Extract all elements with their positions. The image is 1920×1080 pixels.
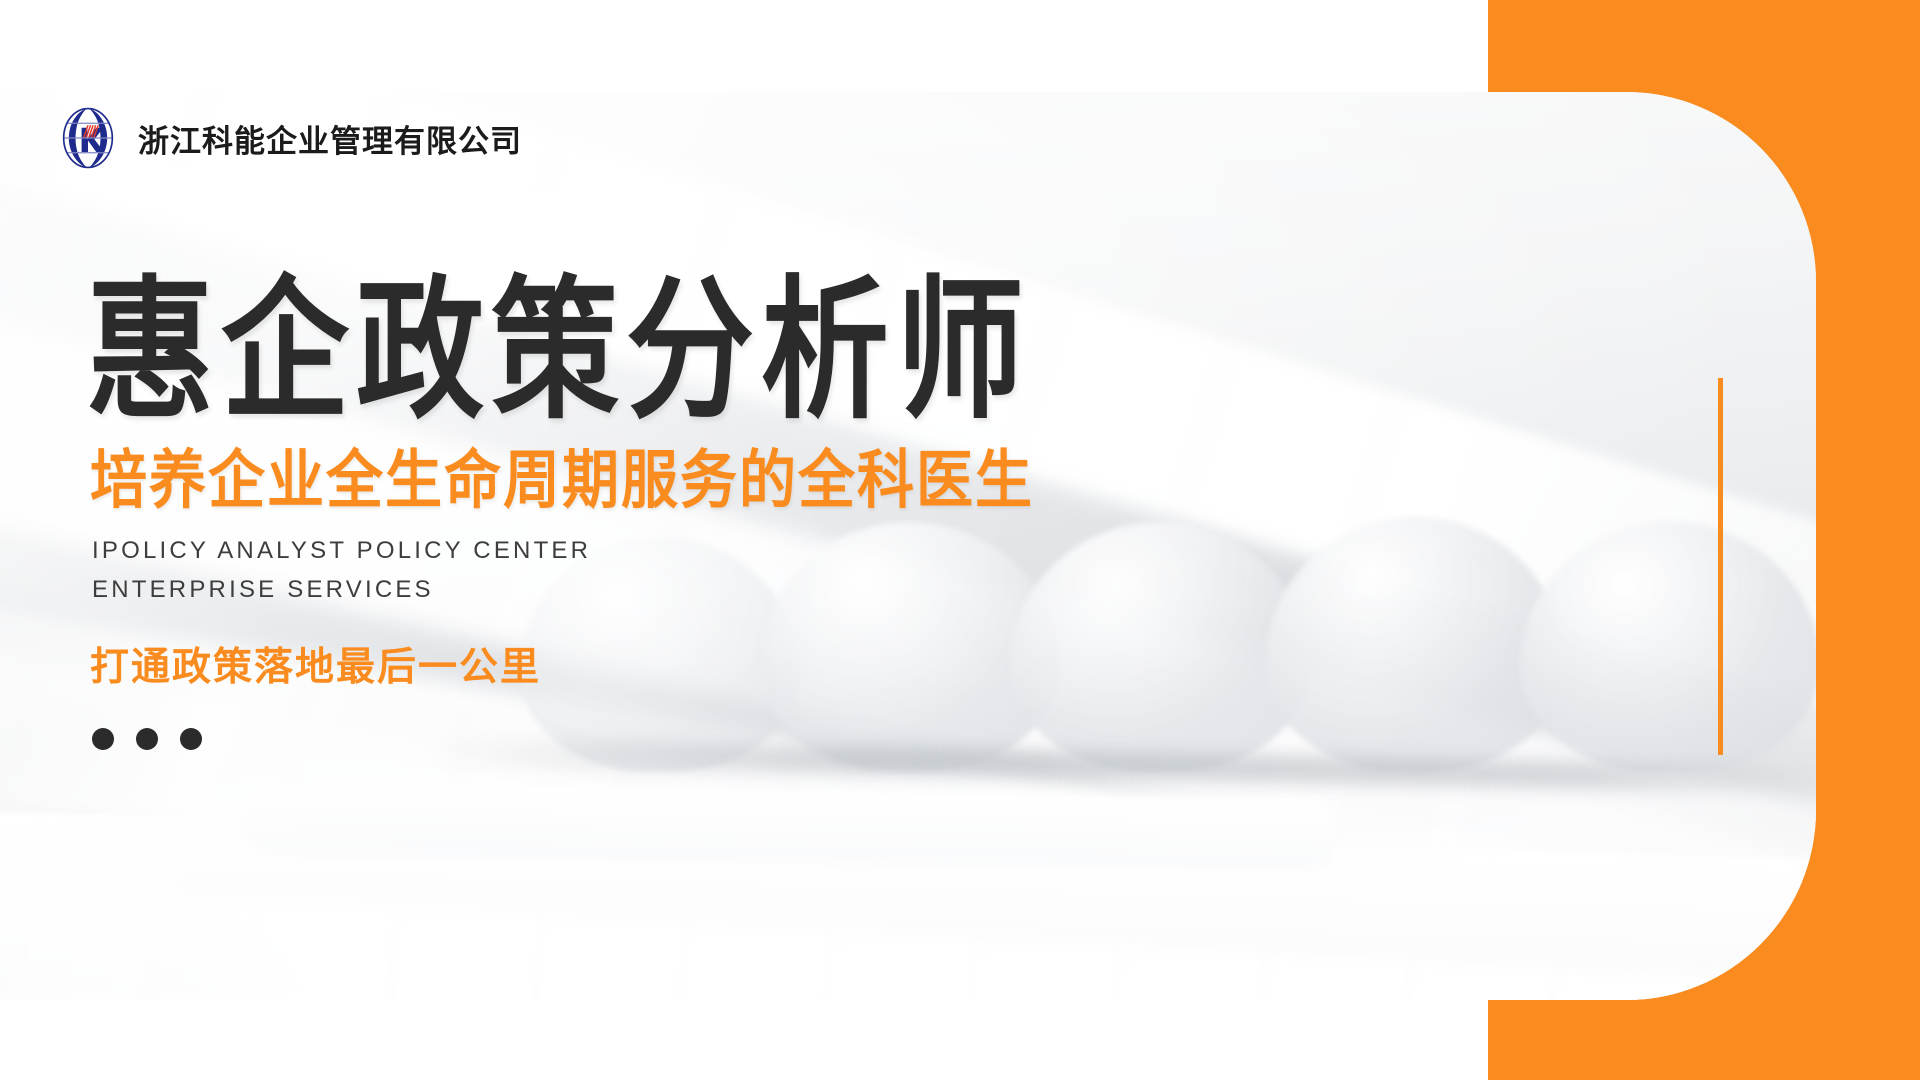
tagline: 打通政策落地最后一公里 bbox=[90, 636, 541, 692]
decor-dot bbox=[180, 728, 202, 750]
decor-dot bbox=[136, 728, 158, 750]
english-caption: IPOLICY ANALYST POLICY CENTER ENTERPRISE… bbox=[92, 532, 591, 610]
english-caption-line-1: IPOLICY ANALYST POLICY CENTER bbox=[92, 532, 591, 571]
company-name: 浙江科能企业管理有限公司 bbox=[138, 116, 522, 161]
decor-dots bbox=[92, 728, 202, 750]
subtitle: 培养企业全生命周期服务的全科医生 bbox=[90, 448, 1034, 515]
poster-canvas: 浙江科能企业管理有限公司 惠企政策分析师 培养企业全生命周期服务的全科医生 IP… bbox=[0, 0, 1920, 1080]
orange-vertical-rule bbox=[1718, 378, 1723, 755]
globe-emblem-icon bbox=[56, 106, 120, 170]
decor-dot bbox=[92, 728, 114, 750]
page-title: 惠企政策分析师 bbox=[86, 274, 1031, 431]
english-caption-line-2: ENTERPRISE SERVICES bbox=[92, 571, 591, 610]
poster-content: 浙江科能企业管理有限公司 惠企政策分析师 培养企业全生命周期服务的全科医生 IP… bbox=[0, 0, 1920, 1080]
brand-lockup: 浙江科能企业管理有限公司 bbox=[56, 106, 522, 170]
